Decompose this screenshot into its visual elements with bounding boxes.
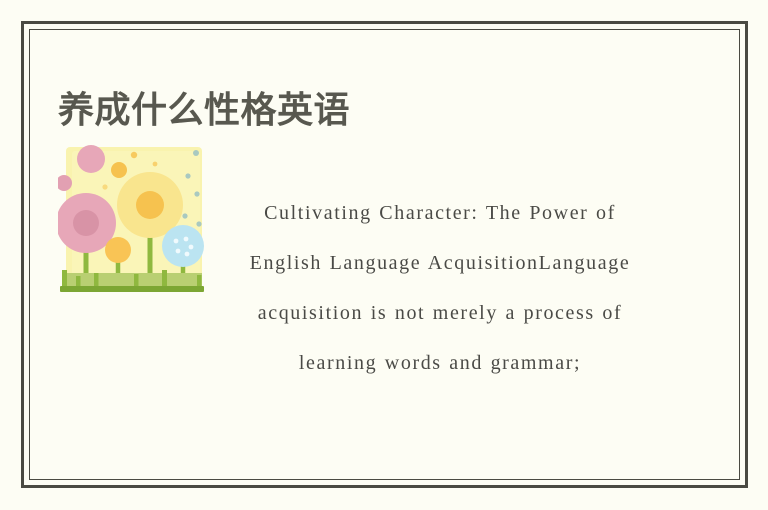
page-title: 养成什么性格英语: [58, 88, 350, 134]
grass: [60, 270, 204, 292]
orange-dot: [111, 162, 127, 178]
article-body-text: Cultivating Character: The Power of Engl…: [228, 188, 652, 388]
flower-garden-illustration: [58, 143, 208, 298]
